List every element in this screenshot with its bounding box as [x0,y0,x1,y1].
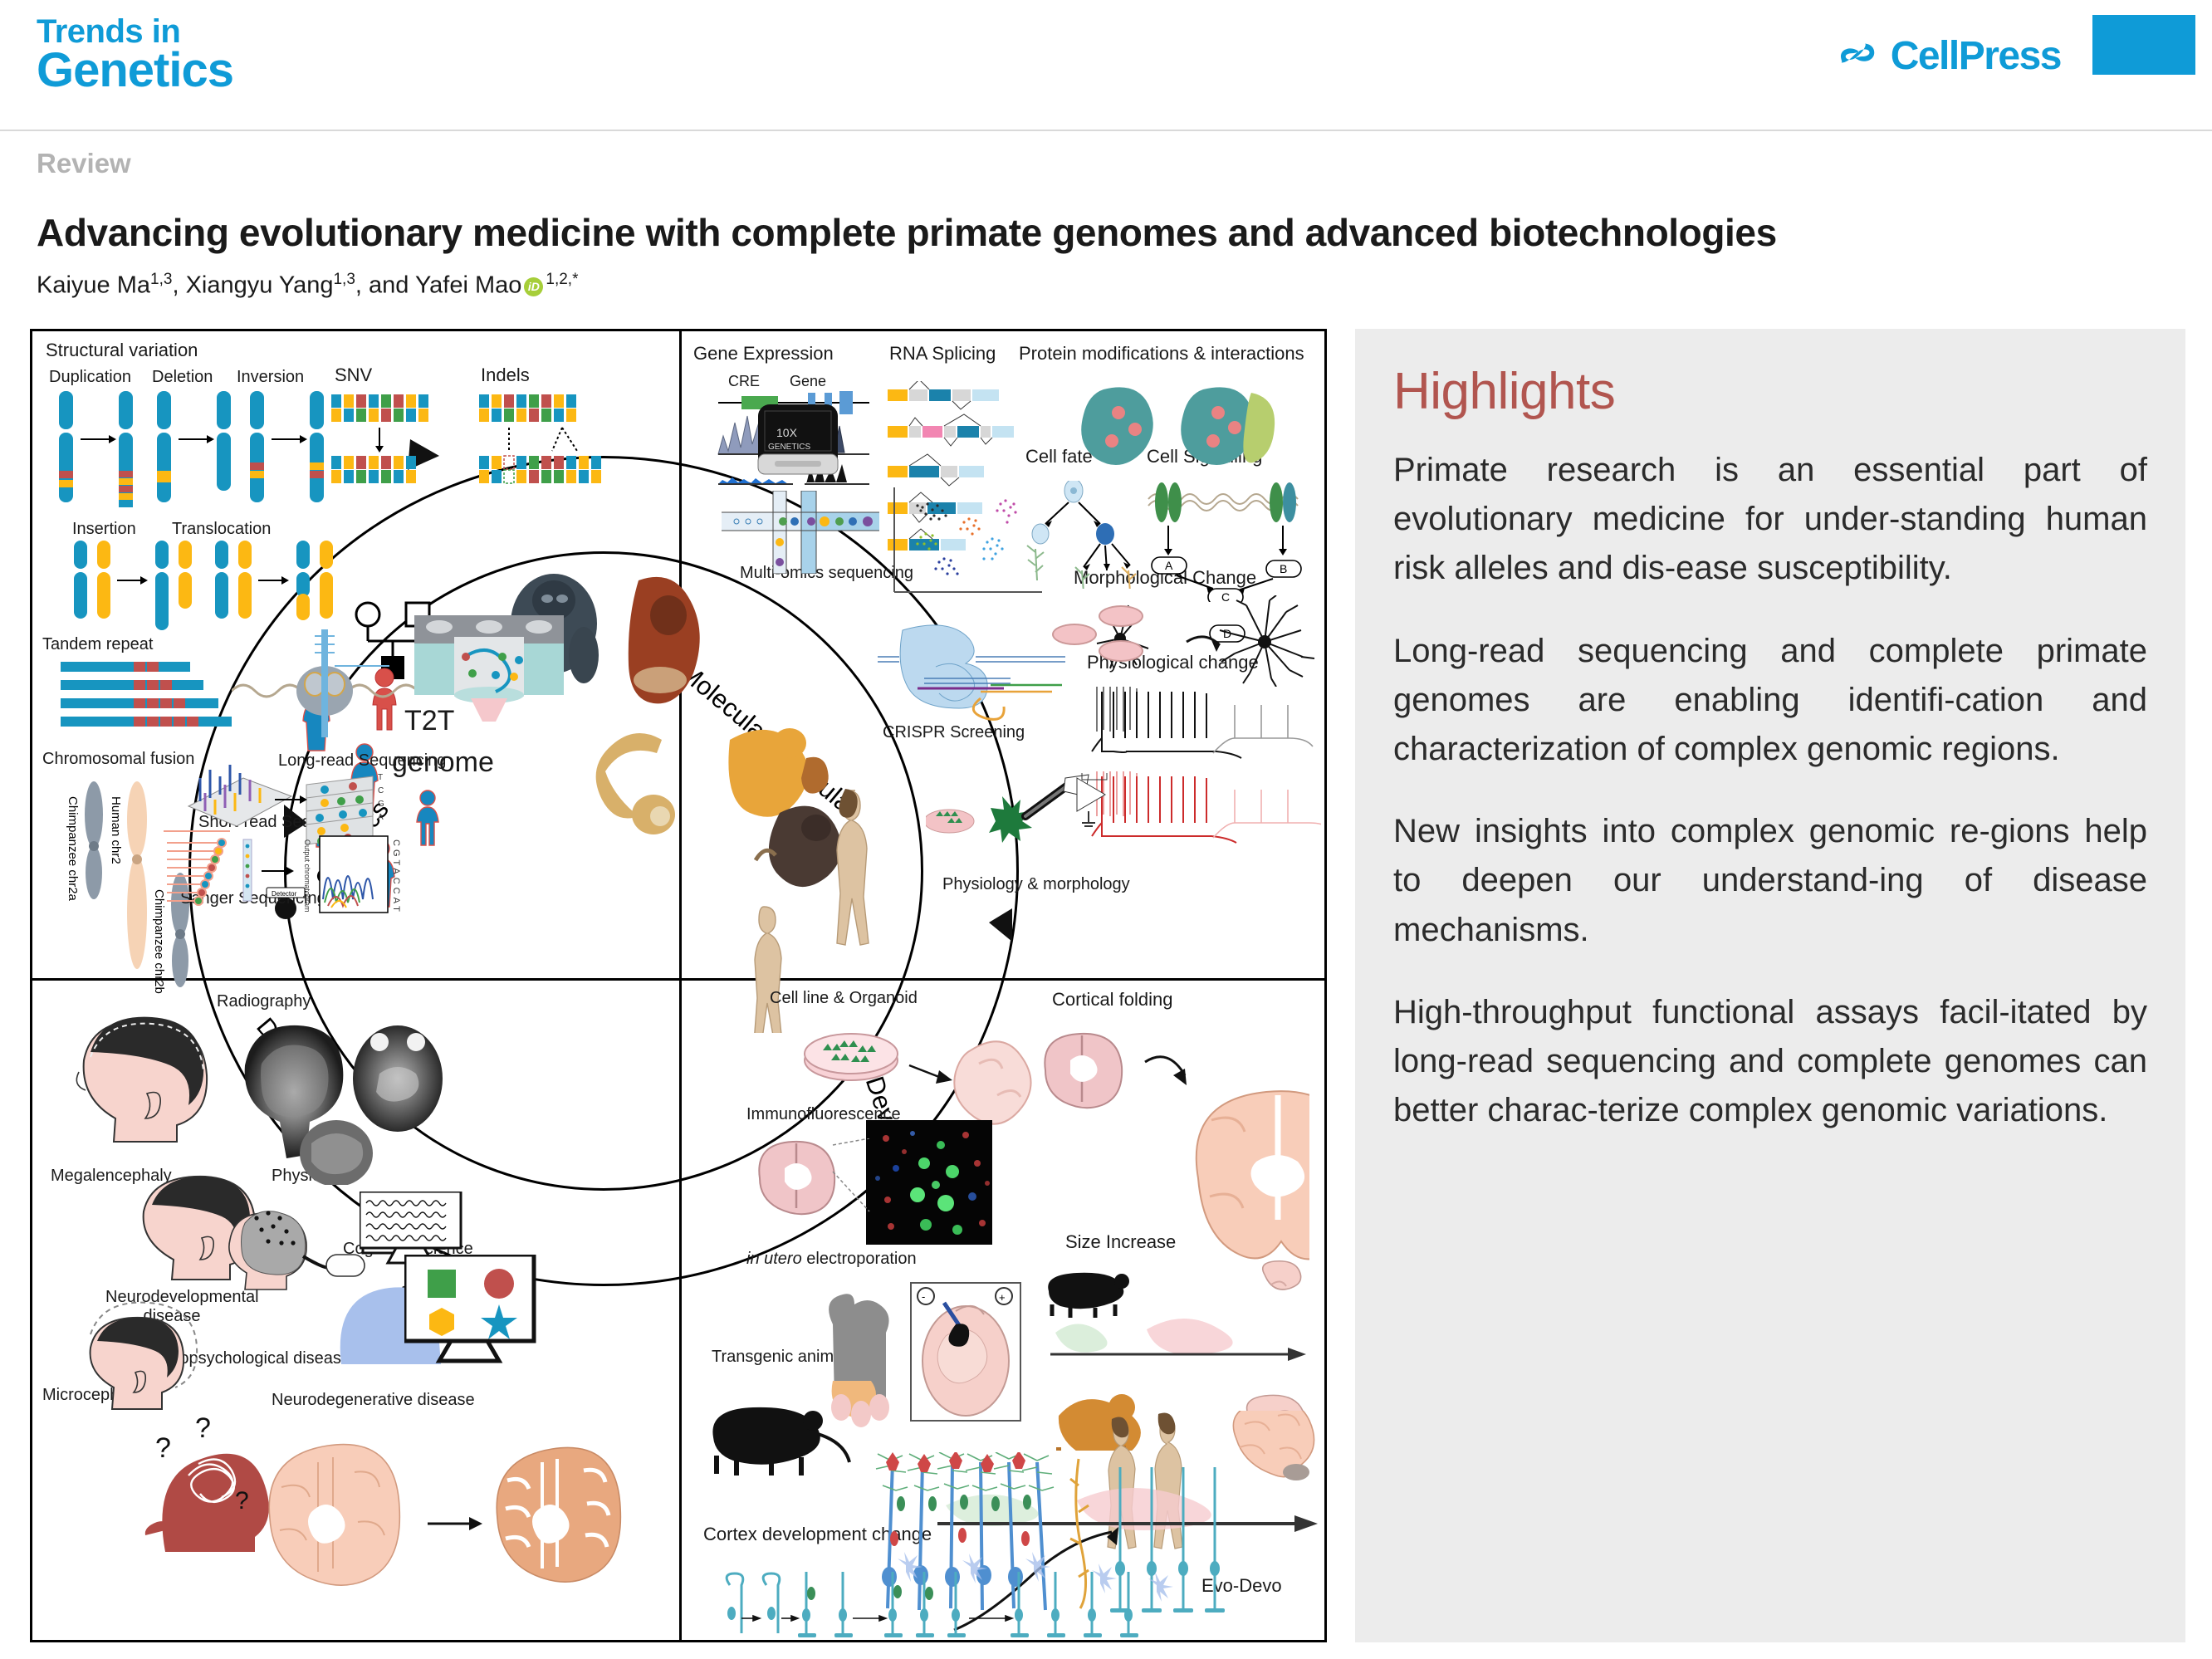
sv-label-inversion: Inversion [237,368,304,387]
device-brand-line1: 10X [776,426,797,439]
microfluidics-chip-diagram [722,491,879,574]
culture-dish-2 [1099,605,1143,627]
immunofluorescence-micrograph [866,1120,999,1253]
article-title: Advancing evolutionary medicine with com… [37,210,1777,255]
journal-name-line2: Genetics [37,46,233,95]
megalencephaly-head-icon [61,1011,227,1160]
nanopore-illustration [232,626,439,751]
sanger-sequencing-illustration: Detector [157,828,398,921]
svg-text:B: B [1280,562,1287,575]
svg-text:C: C [378,786,384,795]
italic-in-utero: in utero [746,1250,802,1268]
inset-callout-lines [829,1138,879,1221]
umap-scatter-plot [884,482,1050,607]
label-protein-modifications: Protein modifications & interactions [1019,343,1304,365]
snv-indels-diagram [331,394,663,494]
insertion-translocation-diagram [69,541,401,640]
author-affil-2: 1,3 [333,271,355,288]
cognitive-task-monitor [404,1255,546,1379]
journal-cover-swatch [2092,15,2195,75]
label-rna-splicing: RNA Splicing [889,343,996,365]
sv-label-translocation: Translocation [172,520,271,539]
svg-text:+: + [999,1291,1006,1304]
highlight-paragraph-1: Primate research is an essential part of… [1393,446,2147,594]
culture-dish-1 [1052,624,1097,645]
neuropsychological-head-icon: ? ? ? [137,1411,278,1560]
patch-clamp-illustration [926,773,1108,881]
organoid-culture-illustration [803,1017,1044,1133]
protein-blobs-illustration [1080,381,1296,472]
svg-text:A: A [378,813,384,822]
journal-logo: Trends in Genetics [37,15,233,95]
highlights-panel: Highlights Primate research is an essent… [1355,329,2185,1642]
author-affil-3: 1,2,* [546,271,578,288]
cell-signalling-pathway: A B C [1147,477,1321,602]
label-gene: Gene [790,373,826,390]
sv-label-deletion: Deletion [152,368,213,387]
sanger-base-sequence: CGTACCAT [391,839,401,915]
crispr-complex-illustration [878,622,1069,738]
label-neurodegenerative-disease: Neurodegenerative disease [272,1391,475,1410]
mri-radiography-images [240,1019,489,1185]
physiology-spike-traces-black [1089,680,1321,771]
smrt-cell-illustration [414,615,564,723]
label-indels: Indels [481,365,530,386]
neurodegeneration-brain-comparison [262,1432,627,1598]
cellpress-mark-icon [1841,37,1879,76]
svg-text:T: T [378,773,383,782]
svg-text:-: - [922,1290,925,1303]
device-brand-line2: GENETICS [768,443,810,452]
highlight-paragraph-4: High-throughput functional assays facil-… [1393,988,2147,1136]
fusion-label-human-chr2: Human chr2 [109,796,123,864]
svg-text:G: G [378,800,384,809]
label-cell-line-organoid: Cell line & Organoid [770,989,918,1008]
sv-label-duplication: Duplication [49,368,131,387]
svg-text:?: ? [235,1487,249,1515]
physiology-spike-traces-red [1089,765,1321,856]
cortical-folding-brains [1035,1020,1309,1270]
label-tandem-repeat: Tandem repeat [42,635,153,654]
author-name-2: Xiangyu Yang [186,272,334,299]
author-list: Kaiyue Ma1,3, Xiangyu Yang1,3, and Yafei… [37,271,578,300]
header-divider [0,130,2212,131]
svg-text:?: ? [155,1432,171,1464]
sanger-axis-label: Output chromatogram [303,839,311,913]
cellpress-logo: CellPress [1841,33,2061,79]
fusion-label-chimp-chr2a: Chimpanzee chr2a [66,796,80,901]
label-snv: SNV [335,365,372,386]
author-affil-1: 1,3 [150,271,172,288]
radial-glia-progression [720,1568,1185,1642]
highlight-paragraph-3: New insights into complex genomic re-gio… [1393,807,2147,955]
cellpress-wordmark: CellPress [1891,33,2061,79]
duplication-diagram [49,391,257,507]
svg-text:?: ? [195,1412,211,1444]
label-cre: CRE [728,373,760,390]
article-type-label: Review [37,148,131,179]
author-name-3: Yafei Mao [415,272,521,299]
page-header: Trends in Genetics CellPress Review [0,0,2212,193]
sv-label-insertion: Insertion [72,520,136,539]
highlight-paragraph-2: Long-read sequencing and complete primat… [1393,627,2147,775]
culture-dish-3 [1099,640,1143,662]
label-radiography: Radiography [217,992,311,1011]
label-cortical-folding: Cortical folding [1052,989,1173,1011]
svg-text:A: A [1165,559,1173,572]
graphical-abstract-figure: Genetics Molecular & cellular Developmen… [30,329,1327,1642]
author-name-1: Kaiyue Ma [37,272,150,299]
transgenic-mouse-icon [705,1387,854,1479]
label-gene-expression: Gene Expression [693,343,834,365]
highlights-heading: Highlights [1393,362,2147,421]
orcid-icon[interactable]: iD [524,277,543,296]
author-conjunction: , and [355,272,415,299]
svg-text:Detector: Detector [272,890,297,898]
sv-section-title: Structural variation [46,340,198,361]
label-chromosomal-fusion: Chromosomal fusion [42,750,194,769]
